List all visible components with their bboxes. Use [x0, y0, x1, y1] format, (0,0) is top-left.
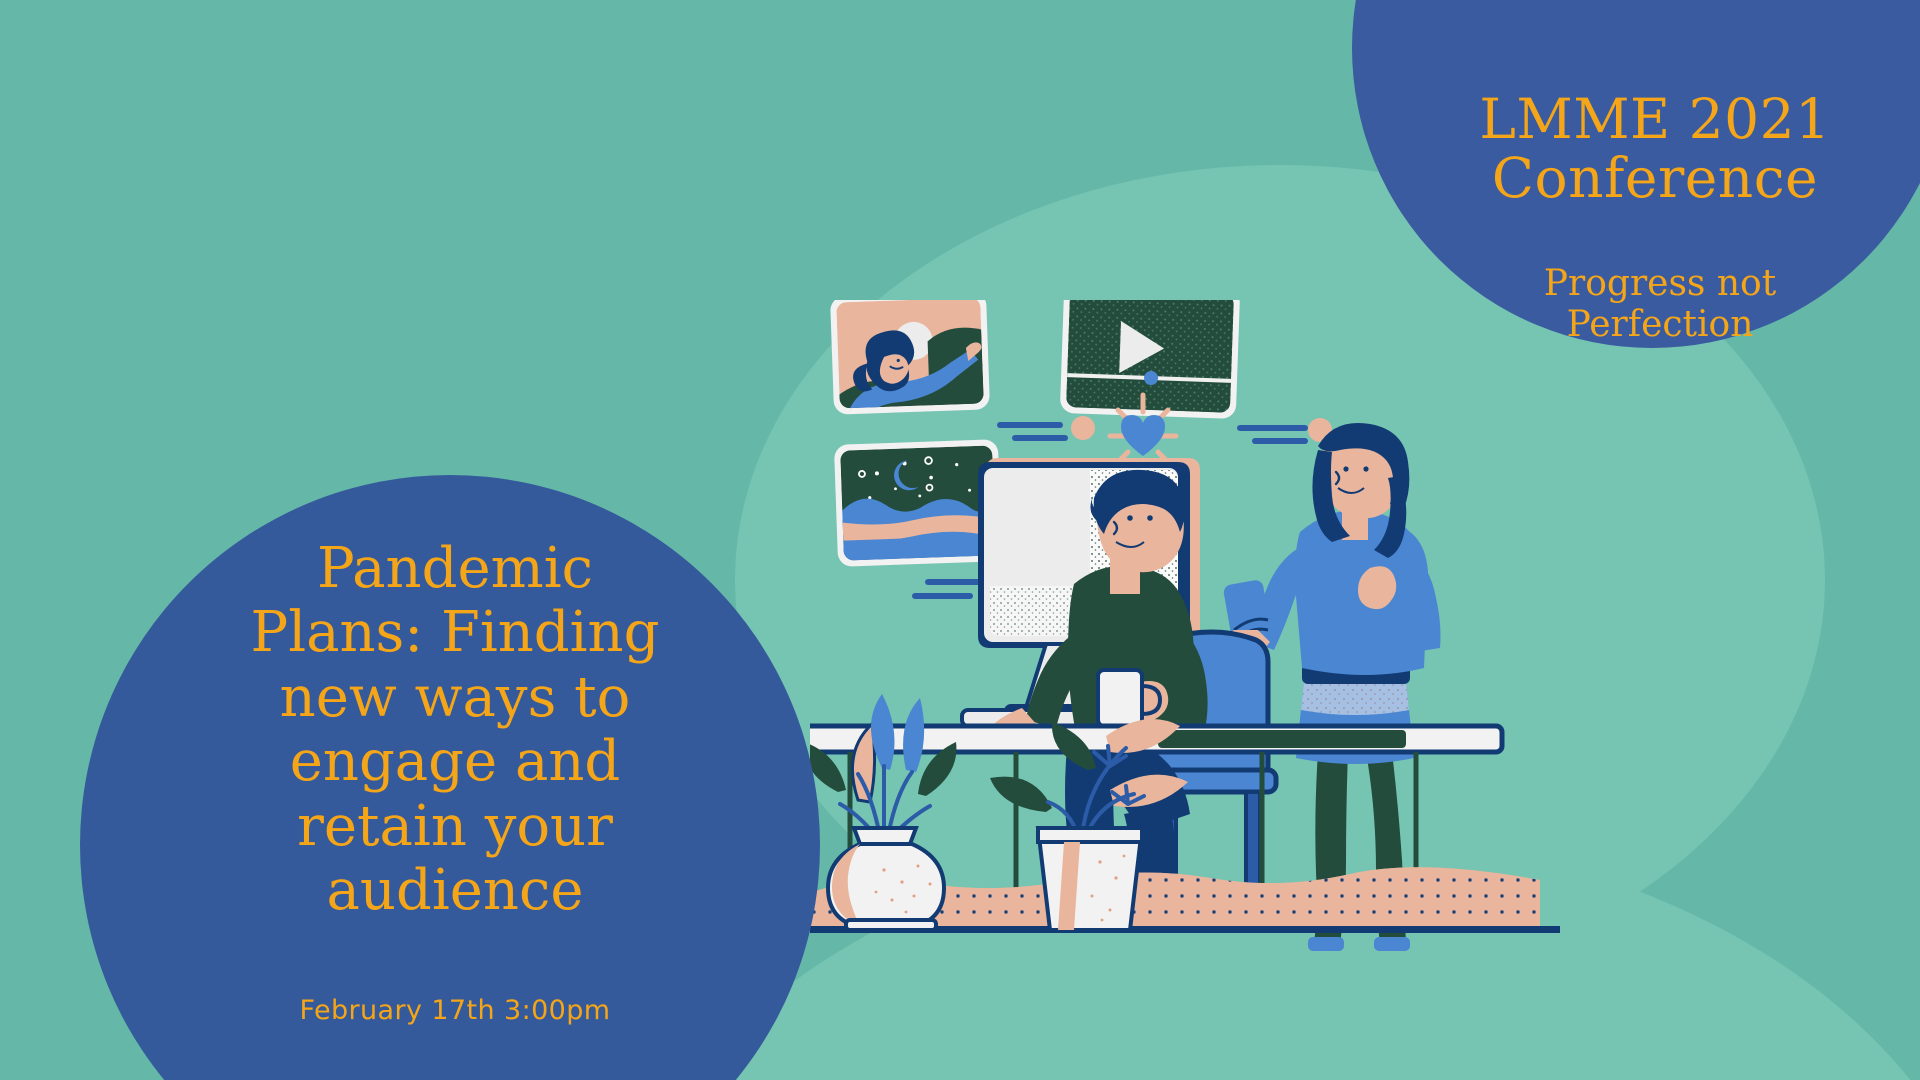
conference-tagline-line-2: Perfection [1470, 304, 1850, 345]
conference-tagline-line-1: Progress not [1470, 263, 1850, 304]
night-sky-card [834, 439, 1002, 567]
conference-title-line-2: Conference [1440, 149, 1870, 208]
session-title: Pandemic Plans: Finding new ways to enga… [175, 537, 735, 923]
remote-work-illustration [810, 300, 1630, 990]
session-title-line-3: new ways to [175, 666, 735, 730]
poster-canvas: LMME 2021 Conference Progress not Perfec… [0, 0, 1920, 1080]
session-title-line-5: retain your [175, 795, 735, 859]
session-title-line-2: Plans: Finding [175, 601, 735, 665]
decor-dot-peach-left [1071, 416, 1095, 440]
decor-lines-right [1240, 428, 1305, 441]
conference-title: LMME 2021 Conference [1440, 90, 1870, 208]
photo-card-beach [830, 300, 990, 418]
video-card [1060, 300, 1240, 419]
session-title-line-4: engage and [175, 730, 735, 794]
session-datetime: February 17th 3:00pm [205, 995, 705, 1026]
session-title-line-1: Pandemic [175, 537, 735, 601]
session-title-line-6: audience [175, 859, 735, 923]
decor-lines-left [1000, 425, 1065, 438]
conference-title-line-1: LMME 2021 [1440, 90, 1870, 149]
conference-tagline: Progress not Perfection [1470, 263, 1850, 345]
decor-lines-night [915, 582, 988, 596]
